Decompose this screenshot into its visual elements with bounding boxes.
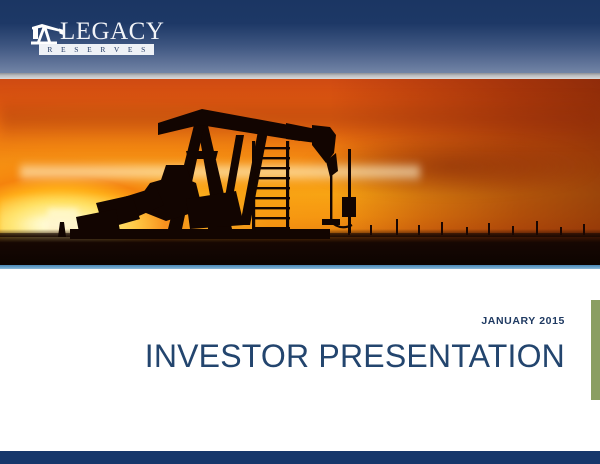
page-title: INVESTOR PRESENTATION xyxy=(145,338,565,375)
title-slide: LEGACY R E S E R V E S xyxy=(0,0,600,464)
logo-wordmark: LEGACY xyxy=(60,19,164,44)
logo-subtitle: R E S E R V E S xyxy=(39,44,154,55)
logo-subtitle-plate: R E S E R V E S xyxy=(39,44,154,55)
pumpjack-silhouette xyxy=(0,79,600,265)
hero-image xyxy=(0,79,600,265)
presentation-date: JANUARY 2015 xyxy=(481,315,565,327)
green-accent-bar xyxy=(591,300,600,400)
hero-bottom-rule xyxy=(0,265,600,269)
company-logo[interactable]: LEGACY R E S E R V E S xyxy=(30,19,154,55)
footer-band xyxy=(0,451,600,464)
oil-pumpjack-icon xyxy=(30,21,64,45)
